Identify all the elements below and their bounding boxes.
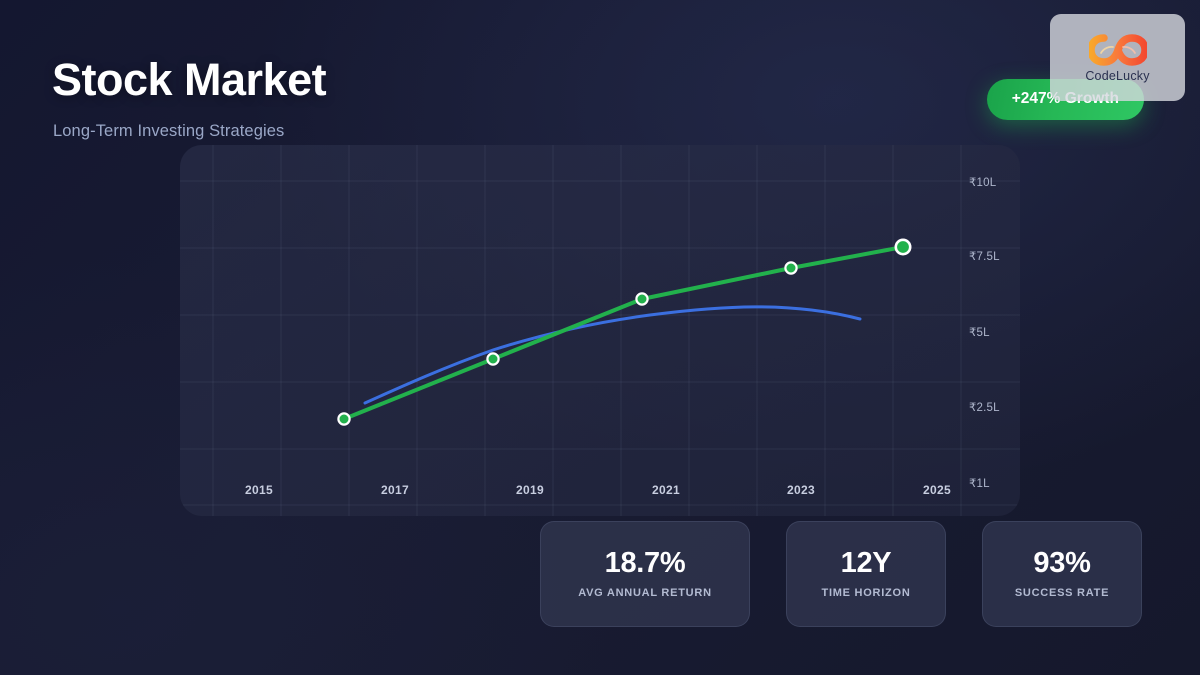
x-tick-2021: 2021 (652, 483, 680, 497)
stat-value: 93% (1033, 549, 1090, 578)
y-tick-5L: ₹5L (969, 325, 990, 339)
stat-label: SUCCESS RATE (1015, 587, 1109, 599)
x-tick-2019: 2019 (516, 483, 544, 497)
stat-value: 12Y (841, 549, 892, 578)
series-line-equity (344, 247, 903, 419)
codelucky-watermark: CodeLucky (1050, 14, 1185, 101)
y-tick-1L: ₹1L (969, 476, 990, 490)
y-tick-7-5L: ₹7.5L (969, 249, 1000, 263)
stat-card-avg-annual-return: 18.7% AVG ANNUAL RETURN (540, 521, 750, 627)
x-tick-2015: 2015 (245, 483, 273, 497)
page-title: Stock Market (52, 57, 326, 102)
watermark-label: CodeLucky (1085, 69, 1149, 83)
y-tick-2-5L: ₹2.5L (969, 400, 1000, 414)
page-subtitle: Long-Term Investing Strategies (53, 122, 284, 141)
stats-row: 18.7% AVG ANNUAL RETURN 12Y TIME HORIZON… (540, 521, 1152, 627)
infinity-logo-icon (1089, 33, 1147, 67)
chart-panel: 2015 2017 2019 2021 2023 2025 (180, 145, 1020, 516)
stat-card-time-horizon: 12Y TIME HORIZON (786, 521, 946, 627)
x-tick-2017: 2017 (381, 483, 409, 497)
series-line-benchmark (365, 307, 860, 403)
chart-series-layer (180, 145, 1020, 516)
stat-label: AVG ANNUAL RETURN (578, 587, 712, 599)
series-markers-equity (338, 240, 910, 425)
stat-value: 18.7% (605, 549, 686, 578)
y-tick-10L: ₹10L (969, 175, 996, 189)
stat-card-success-rate: 93% SUCCESS RATE (982, 521, 1142, 627)
x-tick-2025: 2025 (923, 483, 951, 497)
x-tick-2023: 2023 (787, 483, 815, 497)
stat-label: TIME HORIZON (821, 587, 910, 599)
